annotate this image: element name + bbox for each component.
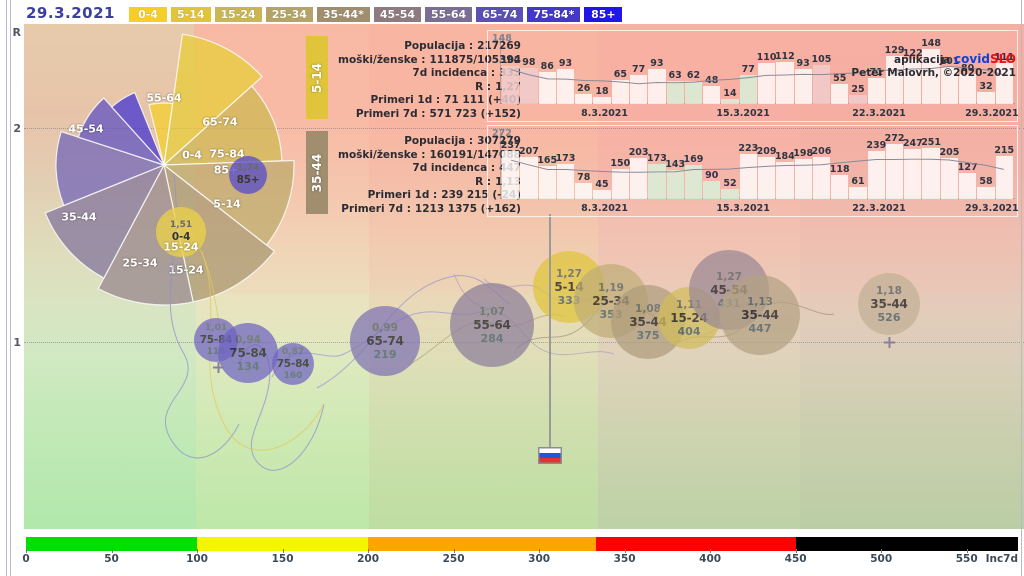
legend-chip-55-64[interactable]: 55-64 xyxy=(424,6,473,23)
info-box-tab-35-44: 35-44 xyxy=(306,131,328,214)
gender-cross-icon-0 xyxy=(213,358,224,369)
info-row-key: Primeri 1d : xyxy=(370,94,440,108)
frame-line-left xyxy=(6,0,7,576)
bubble-r-value: 1,74 xyxy=(237,163,259,173)
info-row-key: Primeri 7d : xyxy=(356,108,426,122)
info-row-key: Populacija : xyxy=(404,40,473,54)
bubble-r-value: 1,08 xyxy=(635,303,661,315)
bubble-r-value: 1,01 xyxy=(205,323,227,333)
y-tick-2: 2 xyxy=(13,122,21,135)
flag-pole xyxy=(549,214,551,447)
y-axis: R 2 1 xyxy=(0,24,24,529)
x-tick-300: 300 xyxy=(528,553,550,565)
bubble-r-value: 1,13 xyxy=(747,296,773,308)
y-tick-1: 1 xyxy=(13,336,21,349)
header-bar: 29.3.2021 0-45-1415-2425-3435-44*45-5455… xyxy=(0,0,1024,24)
bubble-age-group: 85+ xyxy=(237,173,260,187)
legend-chip-85+[interactable]: 85+ xyxy=(583,6,623,23)
legend-chip-45-54[interactable]: 45-54 xyxy=(373,6,422,23)
bubble-incidence: 404 xyxy=(678,325,701,338)
bubble-r-value: 1,27 xyxy=(556,268,582,280)
x-tick-550: 550 xyxy=(956,553,978,565)
bubble-incidence: 134 xyxy=(237,360,260,373)
brand-slo: SLO xyxy=(990,52,1016,66)
covidslo-visualization: 29.3.2021 0-45-1415-2425-3435-44*45-5455… xyxy=(0,0,1024,576)
attribution-app-word: aplikacija xyxy=(894,54,950,66)
x-tick-mark xyxy=(710,549,711,553)
mini-chart-x-tick: 29.3.2021 xyxy=(965,203,1019,214)
mini-chart-x-tick: 22.3.2021 xyxy=(852,203,906,214)
bubble-r-value: 1,18 xyxy=(876,285,902,297)
bubble-r-value: 1,51 xyxy=(170,220,192,230)
x-tick-mark xyxy=(368,549,369,553)
bubble-75-84-134[interactable]: 0,9475-84134 xyxy=(218,323,278,383)
x-tick-mark xyxy=(197,549,198,553)
mini-chart-x-tick: 15.3.2021 xyxy=(716,108,770,119)
bubble-incidence: 526 xyxy=(878,311,901,324)
bubble-incidence: 284 xyxy=(481,332,504,345)
bubble-age-group: 55-64 xyxy=(473,318,510,332)
info-row-key: Populacija : xyxy=(404,135,473,149)
bubble-65-74-219[interactable]: 0,9965-74219 xyxy=(350,306,420,376)
color-scale-segment-4 xyxy=(796,537,1018,551)
x-tick-mark xyxy=(539,549,540,553)
bubble-85+-overlay[interactable]: 1,7485+ xyxy=(229,156,267,194)
color-scale-bar xyxy=(26,537,1018,551)
mini-chart-trend-line xyxy=(502,132,1013,201)
attribution-author: Peter Malovrh, ©2020-2021 xyxy=(851,67,1016,79)
mini-chart-x-tick: 22.3.2021 xyxy=(852,108,906,119)
date-label: 29.3.2021 xyxy=(26,4,115,22)
bubble-age-group: 35-44 xyxy=(741,308,778,322)
x-tick-mark xyxy=(112,549,113,553)
info-row-key: moški/ženske : xyxy=(338,149,425,163)
x-tick-mark xyxy=(881,549,882,553)
bubble-75-84-160[interactable]: 0,8775-84160 xyxy=(272,343,314,385)
legend-chip-65-74[interactable]: 65-74 xyxy=(475,6,524,23)
info-row-key: 7d incidenca : xyxy=(412,162,495,176)
gender-cross-icon-1 xyxy=(884,333,895,344)
bubble-incidence: 447 xyxy=(749,322,772,335)
bubble-incidence: 375 xyxy=(637,329,660,342)
frame-line-left-inner xyxy=(10,0,11,576)
bubble-age-group: 65-74 xyxy=(366,334,403,348)
slovenia-flag-marker[interactable] xyxy=(538,447,562,464)
bubble-55-64-284[interactable]: 1,0755-64284 xyxy=(450,283,534,367)
bubble-r-value: 0,99 xyxy=(372,322,398,334)
y-axis-title: R xyxy=(13,26,21,39)
x-tick-mark xyxy=(26,549,27,553)
x-tick-450: 450 xyxy=(785,553,807,565)
info-row-key: Primeri 7d : xyxy=(341,203,411,217)
x-tick-250: 250 xyxy=(443,553,465,565)
bubble-r-value: 1,07 xyxy=(479,306,505,318)
x-tick-mark xyxy=(454,549,455,553)
bubble-r-value: 1,19 xyxy=(598,282,624,294)
x-tick-0: 0 xyxy=(22,553,29,565)
legend-chip-15-24[interactable]: 15-24 xyxy=(214,6,263,23)
x-tick-mark xyxy=(967,549,968,553)
bubble-35-44-447[interactable]: 1,1335-44447 xyxy=(720,275,800,355)
rose-wedge-label-1524-overlay: 15-24 xyxy=(163,241,198,254)
info-box-tab-label: 5-14 xyxy=(310,62,324,92)
info-box-5-14[interactable]: 5-14Populacija :217269moški/ženske :1118… xyxy=(305,35,515,120)
legend-chip-0-4[interactable]: 0-4 xyxy=(128,6,168,23)
x-tick-350: 350 xyxy=(614,553,636,565)
legend-chip-25-34[interactable]: 25-34 xyxy=(265,6,314,23)
mini-chart-x-tick: 29.3.2021 xyxy=(965,108,1019,119)
legend-chip-75-84[interactable]: 75-84* xyxy=(526,6,581,23)
x-tick-200: 200 xyxy=(357,553,379,565)
mini-chart-x-tick: 8.3.2021 xyxy=(581,203,628,214)
x-tick-500: 500 xyxy=(870,553,892,565)
x-tick-150: 150 xyxy=(272,553,294,565)
bubble-age-group: 75-84 xyxy=(277,357,310,371)
legend-chip-5-14[interactable]: 5-14 xyxy=(170,6,212,23)
bubble-r-value: 0,87 xyxy=(282,347,304,357)
info-box-35-44[interactable]: 35-44Populacija :307279moški/ženske :160… xyxy=(305,130,515,215)
mini-chart-x-tick: 8.3.2021 xyxy=(581,108,628,119)
color-scale-segment-2 xyxy=(368,537,595,551)
brand-covid: covid xyxy=(954,52,990,66)
mini-chart-x-tick: 15.3.2021 xyxy=(716,203,770,214)
x-tick-mark xyxy=(625,549,626,553)
x-tick-400: 400 xyxy=(699,553,721,565)
x-tick-100: 100 xyxy=(186,553,208,565)
info-box-tab-label: 35-44 xyxy=(310,153,324,191)
attribution: aplikacija covidSLO Peter Malovrh, ©2020… xyxy=(851,52,1016,79)
x-axis-title: Inc7d xyxy=(986,553,1018,565)
x-tick-mark xyxy=(283,549,284,553)
mini-chart-1[interactable]: 2722372071651737845150203173143169905222… xyxy=(487,125,1018,217)
info-row-key: moški/ženske : xyxy=(338,54,425,68)
mini-chart-y-axis xyxy=(500,35,501,104)
bubble-incidence: 160 xyxy=(284,371,303,381)
incidence-color-scale: 050100150200250300350400450500550 Inc7d xyxy=(0,529,1024,576)
bubble-r-value: 0,94 xyxy=(235,334,261,346)
x-tick-mark xyxy=(796,549,797,553)
legend-chip-35-44[interactable]: 35-44* xyxy=(316,6,371,23)
age-group-legend[interactable]: 0-45-1415-2425-3435-44*45-5455-6465-7475… xyxy=(128,6,623,23)
info-box-tab-5-14: 5-14 xyxy=(306,36,328,119)
bubble-incidence: 219 xyxy=(374,348,397,361)
color-scale-ticks: 050100150200250300350400450500550 xyxy=(0,553,1024,569)
x-tick-50: 50 xyxy=(104,553,119,565)
main-plot-area: 0-45-1415-2425-3435-4445-5455-6465-7475-… xyxy=(24,24,1024,529)
frame-line-right xyxy=(1021,0,1022,576)
bubble-age-group: 35-44 xyxy=(870,297,907,311)
info-row-key: Primeri 1d : xyxy=(368,189,438,203)
bubble-age-group: 75-84 xyxy=(229,346,266,360)
info-row-key: 7d incidenca : xyxy=(412,67,495,81)
bubble-35-44-526[interactable]: 1,1835-44526 xyxy=(858,273,920,335)
